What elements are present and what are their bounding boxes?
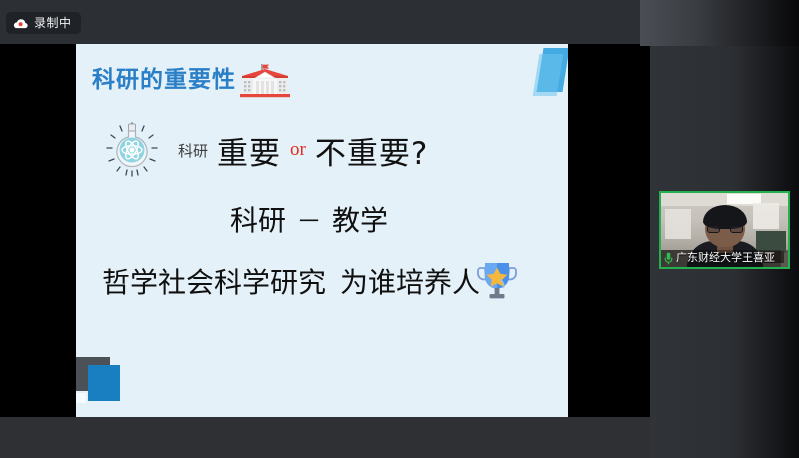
slide-line-3: 哲学社会科学研究 为谁培养人 <box>102 259 517 303</box>
line2-right: 教学 <box>332 199 388 239</box>
line3-right: 为谁培养人 <box>340 261 480 301</box>
line1-conjunction: or <box>290 139 306 161</box>
wall-panel-left <box>665 209 691 239</box>
trophy-icon <box>480 259 517 303</box>
slide-line-2: 科研 一 教学 <box>230 199 388 239</box>
slide-decoration-bottom-left-white <box>76 393 86 403</box>
bottom-chrome-bar <box>0 417 650 458</box>
line1-option-b: 不重要? <box>315 128 428 173</box>
meeting-screen-share-window: 录制中 <box>0 0 799 458</box>
government-building-icon <box>238 62 291 98</box>
slide-title-row: 科研的重要性 <box>92 62 291 98</box>
line1-option-a: 重要 <box>217 128 281 173</box>
microphone-icon <box>664 252 673 265</box>
top-chrome-bar <box>0 0 640 44</box>
recording-status-badge[interactable]: 录制中 <box>6 12 81 34</box>
shared-slide[interactable]: 科研的重要性 <box>76 44 568 417</box>
line1-prefix: 科研 <box>178 140 208 161</box>
line3-left: 哲学社会科学研究 <box>102 261 326 301</box>
wall-panel-right <box>753 203 779 229</box>
line2-left: 科研 <box>230 199 286 239</box>
person-glasses <box>707 225 743 233</box>
slide-line-1: 科研 重要 or 不重要? <box>104 119 428 181</box>
flask-atom-icon <box>104 119 160 181</box>
cloud-recording-icon <box>13 18 28 29</box>
participant-video-tile[interactable]: 广东财经大学王喜亚 <box>659 191 790 269</box>
line2-connector: 一 <box>299 205 319 234</box>
top-chrome-bar-right <box>640 0 799 46</box>
slide-decoration-bottom-left-blue <box>88 365 120 401</box>
slide-title: 科研的重要性 <box>92 69 236 92</box>
participant-nameplate: 广东财经大学王喜亚 <box>661 250 781 267</box>
recording-status-label: 录制中 <box>34 17 72 29</box>
participant-name-label: 广东财经大学王喜亚 <box>676 252 775 264</box>
